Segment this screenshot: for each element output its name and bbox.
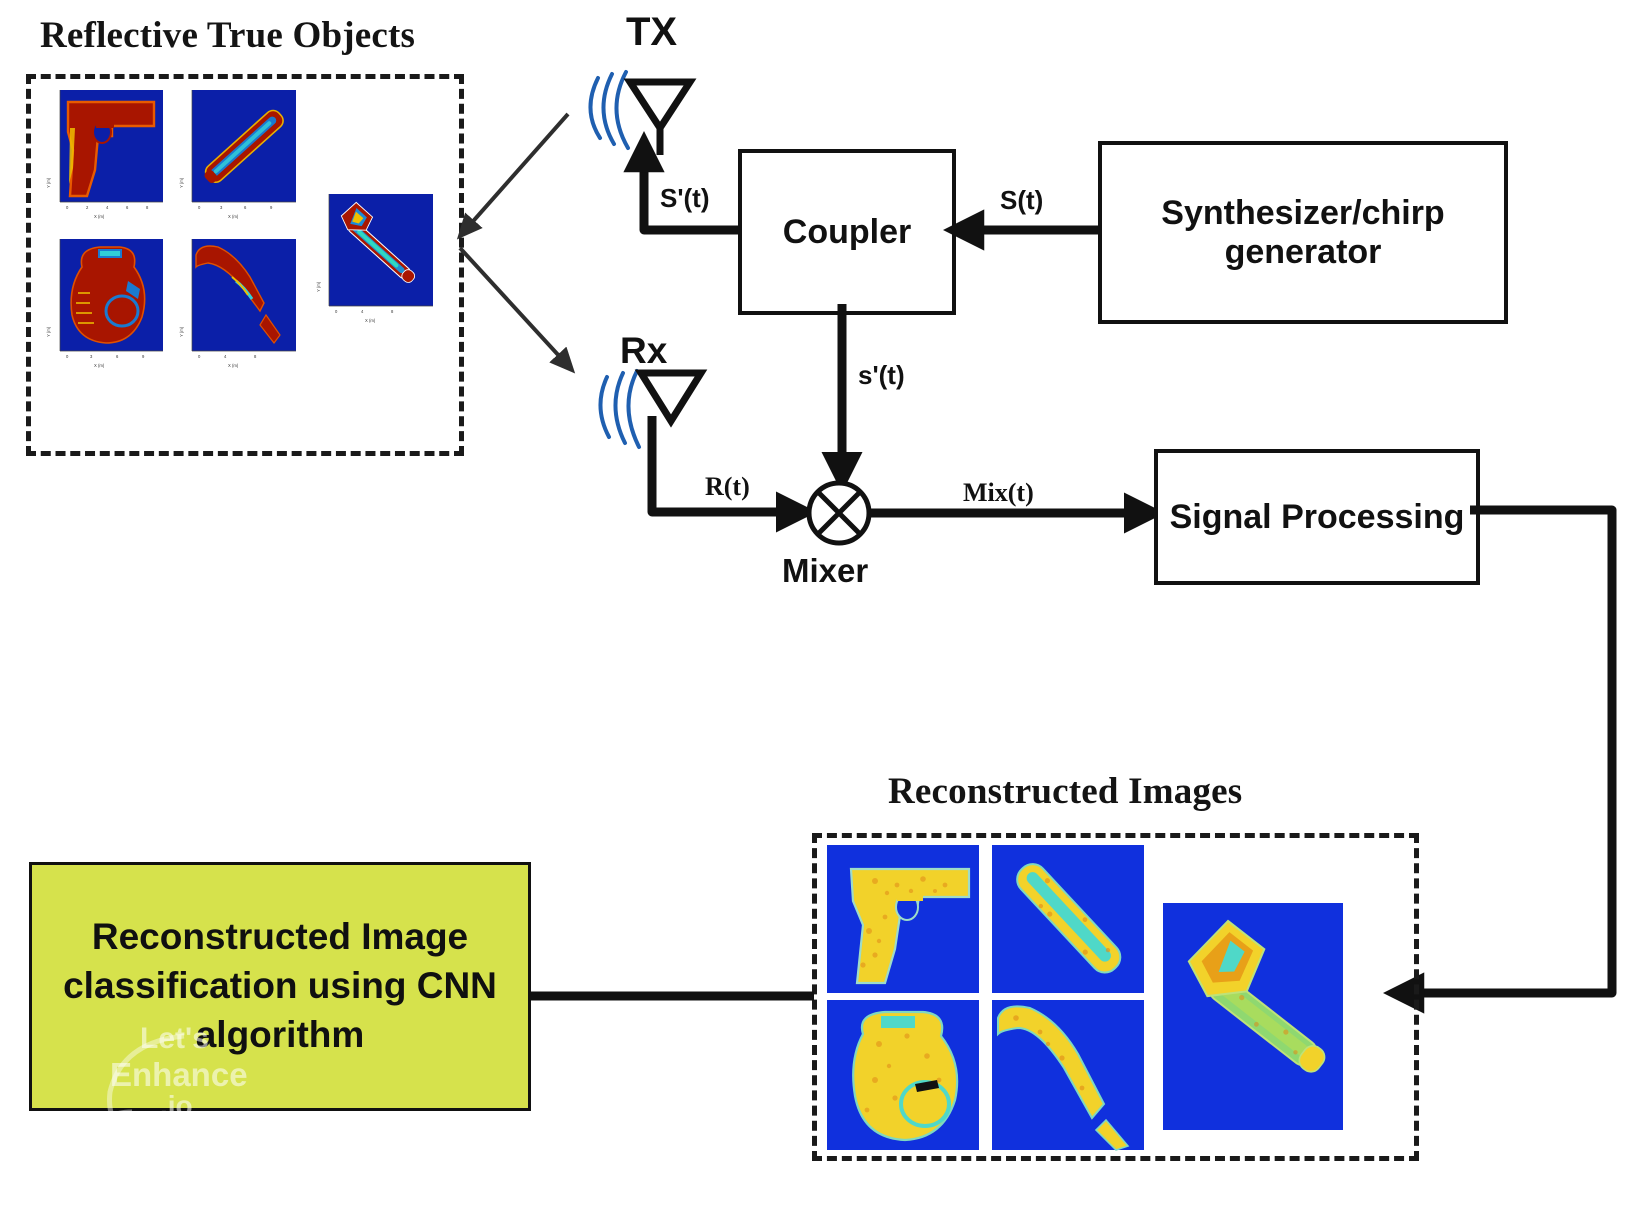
r-label: R(t): [705, 472, 750, 502]
true-object-pipe-wrench: 048 Y (m) X (m): [313, 192, 433, 325]
signal-processing-block: Signal Processing: [1154, 449, 1480, 585]
s-prime-low-label: s'(t): [858, 360, 905, 391]
svg-text:Y (m): Y (m): [179, 326, 184, 337]
s-cap-path: [944, 212, 1104, 252]
coupler-label: Coupler: [783, 213, 911, 251]
svg-text:9: 9: [142, 354, 145, 359]
svg-text:Y (m): Y (m): [179, 177, 184, 188]
reconstructed-images-title: Reconstructed Images: [888, 770, 1242, 813]
svg-text:Y (m): Y (m): [46, 326, 51, 337]
svg-text:8: 8: [391, 309, 394, 314]
reconstructed-pistol: [827, 845, 979, 993]
svg-text:4: 4: [361, 309, 364, 314]
svg-text:4: 4: [224, 354, 227, 359]
svg-text:6: 6: [126, 205, 129, 210]
svg-text:Y (m): Y (m): [46, 177, 51, 188]
svg-text:6: 6: [116, 354, 119, 359]
synthesizer-label: Synthesizer/chirp generator: [1114, 194, 1492, 270]
true-object-knife: 048 Y (m) X (m): [176, 237, 296, 370]
reconstructed-grenade: [827, 1000, 979, 1150]
svg-text:X (m): X (m): [228, 363, 239, 368]
svg-text:0: 0: [198, 354, 201, 359]
svg-text:0: 0: [66, 205, 69, 210]
s-cap-label: S(t): [1000, 185, 1043, 216]
svg-text:3: 3: [220, 205, 223, 210]
s-prime-cap-label: S'(t): [660, 183, 710, 214]
svg-text:X (m): X (m): [94, 214, 105, 219]
true-objects-title: Reflective True Objects: [40, 14, 415, 57]
svg-text:0: 0: [335, 309, 338, 314]
reconstructed-knife: [992, 1000, 1144, 1150]
letsenhance-watermark: [80, 1020, 380, 1140]
svg-text:2: 2: [86, 205, 89, 210]
signal-processing-label: Signal Processing: [1170, 498, 1465, 536]
reconstructed-pipe-wrench: [1163, 903, 1343, 1130]
coupler-block: Coupler: [738, 149, 956, 315]
true-object-grenade: 03 69 Y (m) X (m): [42, 237, 163, 370]
svg-text:0: 0: [198, 205, 201, 210]
reconstructed-to-cnn-path: [484, 978, 820, 1018]
svg-text:X (m): X (m): [94, 363, 105, 368]
svg-text:8: 8: [146, 205, 149, 210]
reconstructed-baseball-bat: [992, 845, 1144, 993]
svg-text:X (m): X (m): [365, 318, 376, 323]
true-object-pistol: 02 468 Y (m) X (m): [42, 88, 163, 221]
svg-text:4: 4: [106, 205, 109, 210]
svg-text:8: 8: [254, 354, 257, 359]
svg-text:6: 6: [244, 205, 247, 210]
propagation-arrows: [440, 100, 640, 430]
mixer-label: Mixer: [782, 552, 868, 590]
svg-text:X (m): X (m): [228, 214, 239, 219]
mixer-symbol: [800, 474, 878, 552]
tx-label: TX: [626, 10, 677, 55]
svg-text:9: 9: [270, 205, 273, 210]
svg-text:0: 0: [66, 354, 69, 359]
mix-label: Mix(t): [963, 478, 1034, 508]
true-object-baseball-bat: 03 69 Y (m) X (m): [176, 88, 296, 221]
svg-text:Y (m): Y (m): [316, 281, 321, 292]
svg-text:3: 3: [90, 354, 93, 359]
synthesizer-block: Synthesizer/chirp generator: [1098, 141, 1508, 324]
sp-to-reconstructed-path: [1460, 495, 1633, 1015]
